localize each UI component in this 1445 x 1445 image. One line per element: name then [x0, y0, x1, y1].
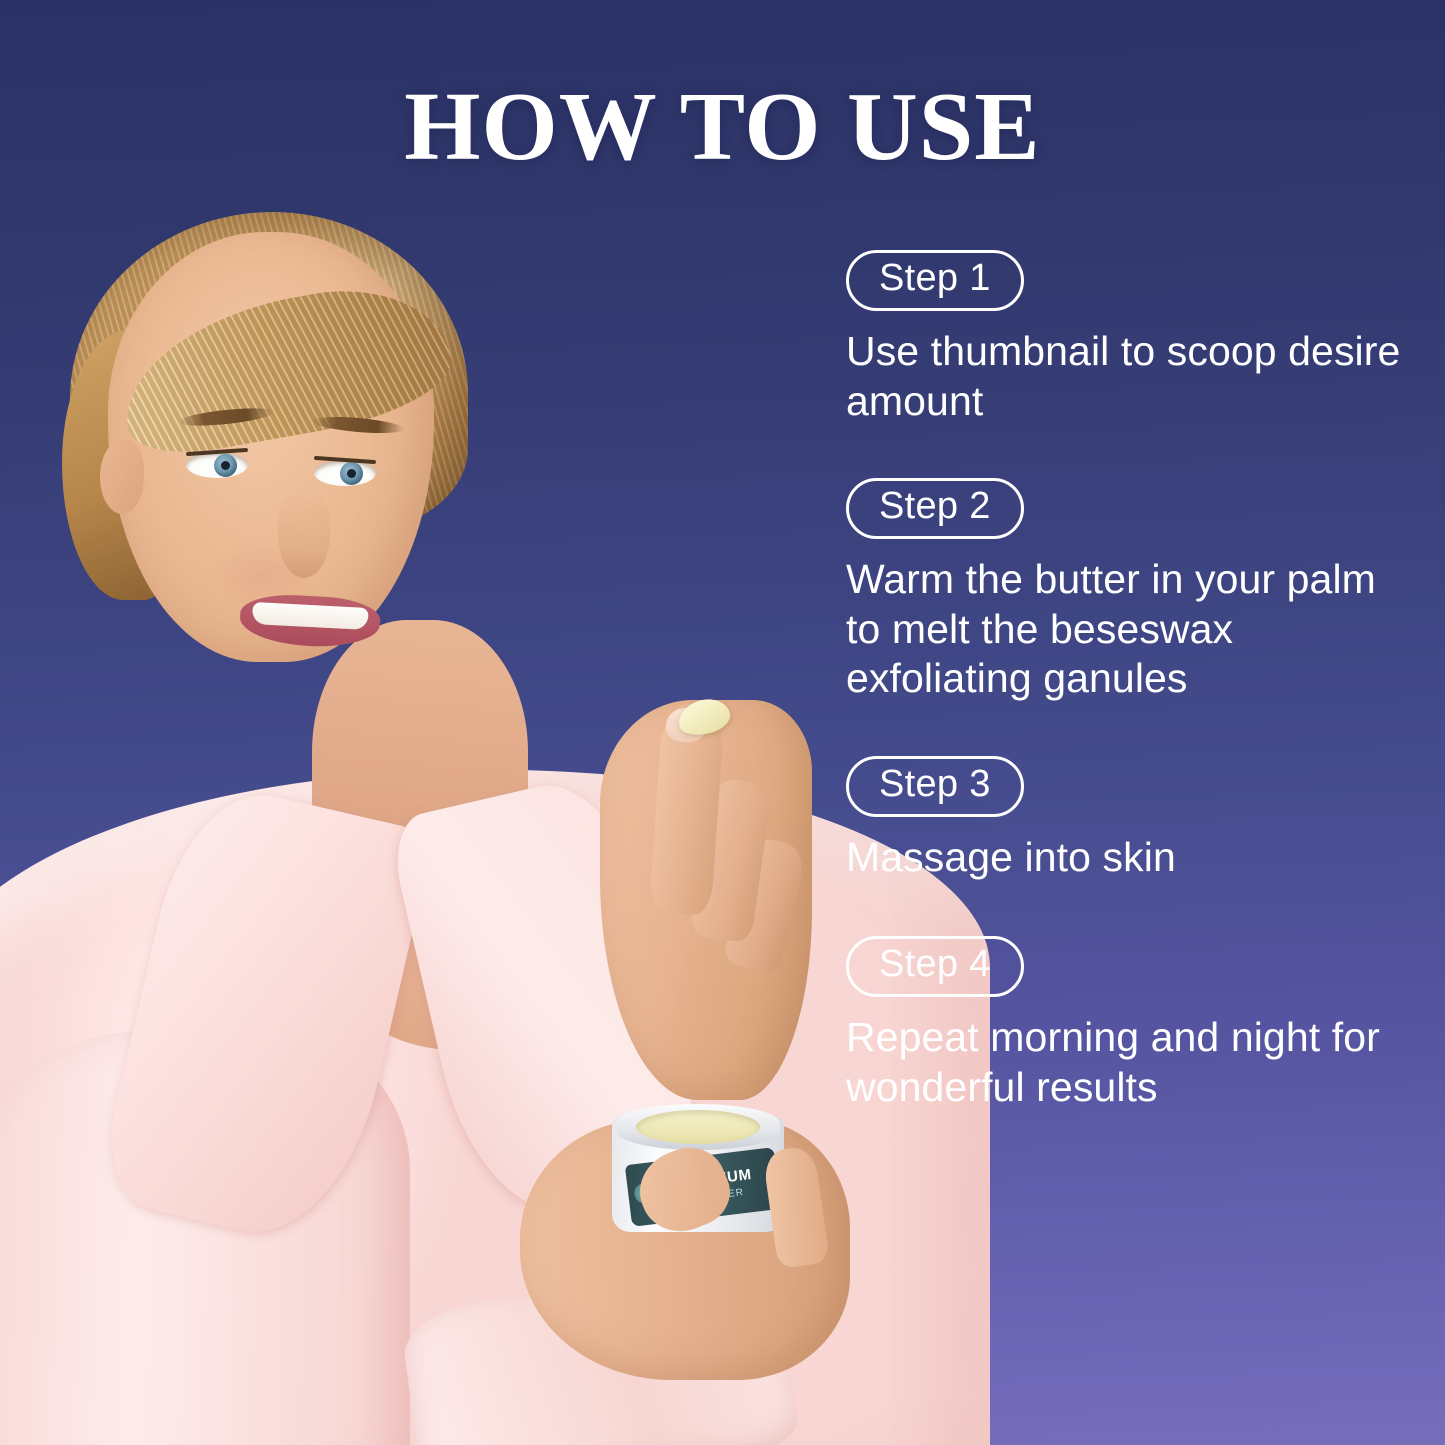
model-photo: eight MAGNESIUM BODY BUTTER	[0, 0, 880, 1445]
step-text-3: Massage into skin	[846, 833, 1416, 883]
teeth	[252, 602, 369, 630]
step-text-2: Warm the butter in your palm to melt the…	[846, 555, 1416, 704]
step-text-4: Repeat morning and night for wonderful r…	[846, 1013, 1416, 1112]
page-title: HOW TO USE	[0, 78, 1445, 176]
how-to-use-infographic: eight MAGNESIUM BODY BUTTER HOW TO USE S…	[0, 0, 1445, 1445]
step-item-4: Step 4 Repeat morning and night for wond…	[846, 936, 1416, 1112]
step-badge-1: Step 1	[846, 250, 1024, 311]
pupil-right	[347, 469, 356, 478]
step-badge-2: Step 2	[846, 478, 1024, 539]
step-text-1: Use thumbnail to scoop desire amount	[846, 327, 1416, 426]
ear	[100, 440, 144, 514]
steps-list: Step 1 Use thumbnail to scoop desire amo…	[846, 250, 1416, 1112]
step-item-2: Step 2 Warm the butter in your palm to m…	[846, 478, 1416, 704]
pupil-left	[221, 461, 230, 470]
step-badge-4: Step 4	[846, 936, 1024, 997]
step-item-1: Step 1 Use thumbnail to scoop desire amo…	[846, 250, 1416, 426]
step-badge-3: Step 3	[846, 756, 1024, 817]
step-item-3: Step 3 Massage into skin	[846, 756, 1416, 883]
jar-contents	[636, 1110, 760, 1144]
